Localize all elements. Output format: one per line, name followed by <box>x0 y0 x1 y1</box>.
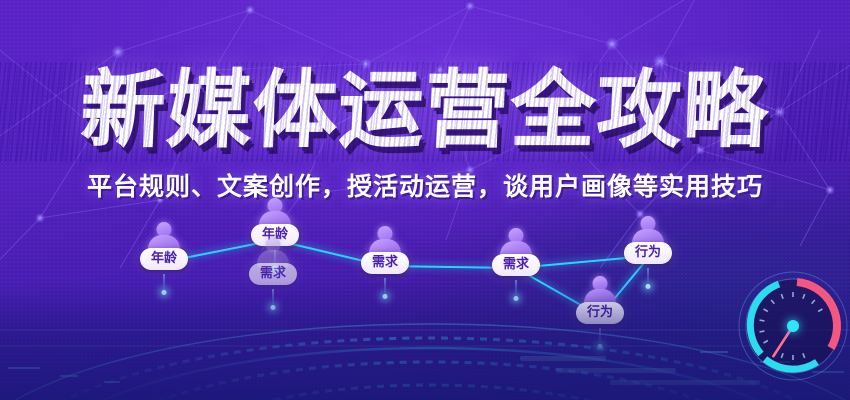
node-label-pill[interactable]: 行为 <box>576 302 624 324</box>
node-label-pill[interactable]: 需求 <box>492 254 540 276</box>
graph-node-n7[interactable]: 行为 <box>560 276 640 372</box>
node-stem-dot <box>646 284 651 289</box>
node-stem-dot <box>271 305 276 310</box>
speedometer-gauge <box>735 268 850 384</box>
graph-node-n1[interactable]: 年龄 <box>124 222 204 318</box>
graph-node-n3[interactable]: 需求 <box>233 237 313 333</box>
node-label-pill[interactable]: 行为 <box>624 242 672 264</box>
user-profile-graph-edges <box>0 0 850 400</box>
promo-banner: 新媒体运营全攻略 平台规则、文案创作，授活动运营，谈用户画像等实用技巧 年龄年龄… <box>0 0 850 400</box>
node-stem-dot <box>598 344 603 349</box>
node-stem-dot <box>514 296 519 301</box>
node-stem-dot <box>383 294 388 299</box>
node-stem-dot <box>162 290 167 295</box>
node-label-pill[interactable]: 需求 <box>249 263 297 285</box>
node-label-pill[interactable]: 需求 <box>361 252 409 274</box>
node-label-pill[interactable]: 年龄 <box>140 248 188 270</box>
graph-node-n5[interactable]: 需求 <box>476 228 556 324</box>
graph-node-n4[interactable]: 需求 <box>345 226 425 322</box>
